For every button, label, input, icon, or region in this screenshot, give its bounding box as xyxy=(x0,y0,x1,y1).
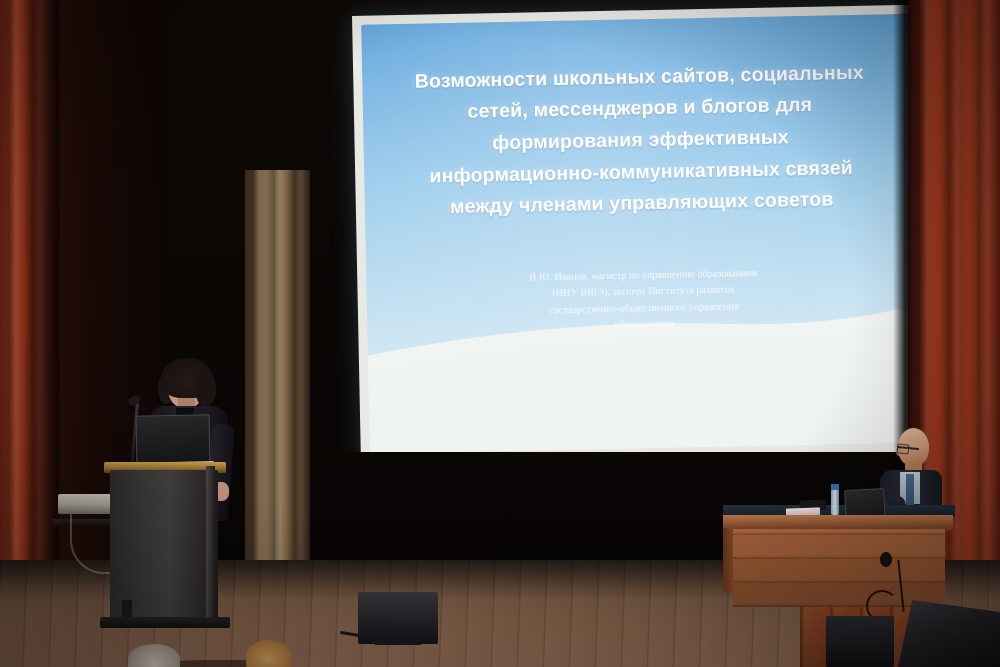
bottle-cap xyxy=(831,484,839,490)
water-bottle xyxy=(831,489,839,515)
slide-title: Возможности школьных сайтов, социальных … xyxy=(390,57,892,225)
auditorium-scene: Возможности школьных сайтов, социальных … xyxy=(0,0,1000,667)
stage-monitor-speaker xyxy=(358,592,438,644)
table-wood-grain xyxy=(733,529,945,607)
curtain-folds xyxy=(0,0,60,620)
monitor-base xyxy=(375,640,421,645)
pa-speaker-right xyxy=(898,600,1000,667)
curtain-left-red xyxy=(0,0,60,620)
slide-subtitle: И.Ю. Иванов, магистр по управлению образ… xyxy=(422,264,866,339)
podium-right-edge xyxy=(206,466,215,626)
projection-screen: Возможности школьных сайтов, социальных … xyxy=(352,5,931,464)
curtain-folds xyxy=(245,170,310,590)
table-cable-grommet xyxy=(880,552,892,567)
presenter-hair-right xyxy=(196,372,216,406)
audience-head-grey xyxy=(128,644,180,667)
curtain-beige xyxy=(245,170,310,590)
presentation-slide: Возможности школьных сайтов, социальных … xyxy=(361,14,923,454)
podium-laptop-screen xyxy=(136,414,211,467)
pa-speaker-left xyxy=(826,616,894,667)
seated-man-tie xyxy=(906,474,914,506)
table-front-panel xyxy=(733,529,945,607)
audience-head-brown xyxy=(246,640,292,667)
podium-base xyxy=(100,617,230,628)
